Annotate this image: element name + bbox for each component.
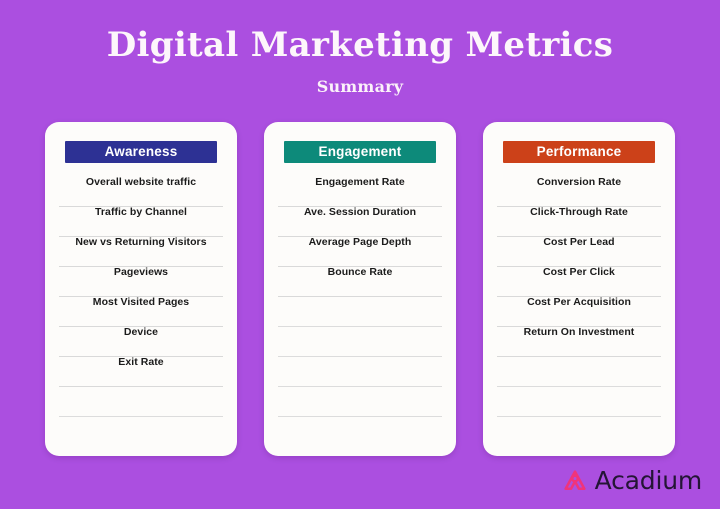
page-header: Digital Marketing Metrics Summary	[0, 0, 720, 96]
card-badge-performance[interactable]: Performance	[503, 141, 655, 163]
metric-row-empty	[278, 297, 442, 327]
card-badge-awareness[interactable]: Awareness	[65, 141, 217, 163]
metric-row: Overall website traffic	[59, 177, 223, 207]
metric-row-empty	[59, 387, 223, 417]
metric-row: Device	[59, 327, 223, 357]
acadium-logo[interactable]: Acadium	[562, 466, 702, 495]
card-badge-engagement[interactable]: Engagement	[284, 141, 436, 163]
page-subtitle: Summary	[0, 77, 720, 96]
acadium-wordmark: Acadium	[595, 466, 702, 495]
metric-card-awareness: AwarenessOverall website trafficTraffic …	[45, 122, 237, 456]
metric-row: Traffic by Channel	[59, 207, 223, 237]
metric-row-empty	[497, 357, 661, 387]
metric-row: Conversion Rate	[497, 177, 661, 207]
metric-row: Average Page Depth	[278, 237, 442, 267]
metric-row-empty	[497, 387, 661, 417]
metric-row: Cost Per Acquisition	[497, 297, 661, 327]
metric-row: Cost Per Lead	[497, 237, 661, 267]
metric-row-label: Engagement Rate	[315, 177, 404, 188]
card-rows-performance: Conversion RateClick-Through RateCost Pe…	[497, 177, 661, 417]
metric-card-engagement: EngagementEngagement RateAve. Session Du…	[264, 122, 456, 456]
metric-row: Cost Per Click	[497, 267, 661, 297]
metric-row-label: Pageviews	[114, 267, 168, 278]
metric-row: Bounce Rate	[278, 267, 442, 297]
card-rows-engagement: Engagement RateAve. Session DurationAver…	[278, 177, 442, 417]
metric-row: Exit Rate	[59, 357, 223, 387]
metric-row-label: New vs Returning Visitors	[75, 237, 206, 248]
metric-row-label: Ave. Session Duration	[304, 207, 416, 218]
metric-row: Ave. Session Duration	[278, 207, 442, 237]
metric-row: Most Visited Pages	[59, 297, 223, 327]
acadium-a-mark-icon	[562, 468, 588, 494]
metric-row-label: Bounce Rate	[328, 267, 393, 278]
metric-row-label: Cost Per Click	[543, 267, 615, 278]
card-rows-awareness: Overall website trafficTraffic by Channe…	[59, 177, 223, 417]
metric-row: Click-Through Rate	[497, 207, 661, 237]
metric-row-label: Device	[124, 327, 158, 338]
metric-cards-container: AwarenessOverall website trafficTraffic …	[45, 122, 675, 456]
metric-row-label: Most Visited Pages	[93, 297, 189, 308]
metric-row-label: Traffic by Channel	[95, 207, 187, 218]
page-title: Digital Marketing Metrics	[0, 26, 720, 65]
metric-row-label: Exit Rate	[118, 357, 163, 368]
metric-row-empty	[278, 387, 442, 417]
metric-row-label: Cost Per Acquisition	[527, 297, 631, 308]
metric-row-empty	[278, 327, 442, 357]
metric-row-label: Conversion Rate	[537, 177, 621, 188]
metric-row: New vs Returning Visitors	[59, 237, 223, 267]
metric-row-label: Click-Through Rate	[530, 207, 628, 218]
metric-row: Pageviews	[59, 267, 223, 297]
metric-row-label: Overall website traffic	[86, 177, 196, 188]
metric-row: Return On Investment	[497, 327, 661, 357]
metric-row-label: Return On Investment	[524, 327, 635, 338]
metric-row: Engagement Rate	[278, 177, 442, 207]
metric-row-label: Cost Per Lead	[543, 237, 614, 248]
metric-card-performance: PerformanceConversion RateClick-Through …	[483, 122, 675, 456]
metric-row-label: Average Page Depth	[309, 237, 412, 248]
metric-row-empty	[278, 357, 442, 387]
